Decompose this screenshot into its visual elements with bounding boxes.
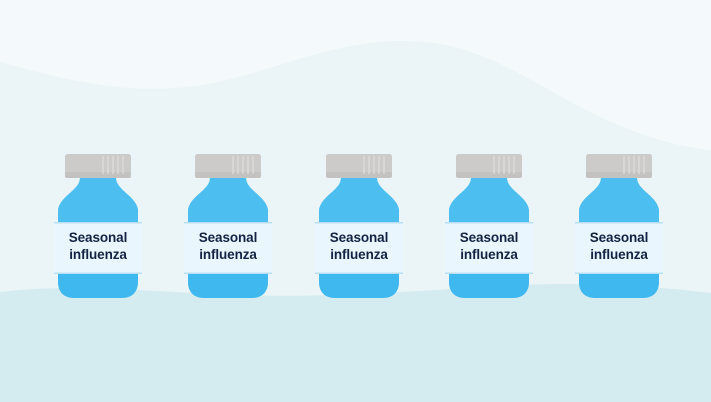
- vial-body-highlight: [449, 178, 529, 222]
- vaccine-vial[interactable]: Seasonal influenza: [313, 152, 405, 302]
- vial-graphic: [52, 152, 144, 302]
- vial-label-edge-top: [54, 222, 142, 224]
- vial-body-highlight: [579, 178, 659, 222]
- vial-body-highlight: [188, 178, 268, 222]
- vial-label: [575, 222, 663, 274]
- vial-label: [184, 222, 272, 274]
- vial-label: [315, 222, 403, 274]
- vial-label-edge-top: [184, 222, 272, 224]
- vial-body-highlight: [58, 178, 138, 222]
- vaccine-vial[interactable]: Seasonal influenza: [573, 152, 665, 302]
- vial-graphic: [443, 152, 535, 302]
- vial-cap-shadow: [65, 172, 131, 178]
- vial-label-edge-bottom: [575, 273, 663, 275]
- vial-label-edge-bottom: [184, 273, 272, 275]
- vial-label-edge-top: [575, 222, 663, 224]
- vial-graphic: [573, 152, 665, 302]
- vaccine-vial[interactable]: Seasonal influenza: [443, 152, 535, 302]
- vial-label: [445, 222, 533, 274]
- vial-cap-shadow: [586, 172, 652, 178]
- vial-label-edge-bottom: [315, 273, 403, 275]
- vial-cap-shadow: [326, 172, 392, 178]
- illustration-scene: Seasonal influenza: [0, 0, 711, 402]
- vaccine-vial[interactable]: Seasonal influenza: [182, 152, 274, 302]
- vial-body-highlight: [319, 178, 399, 222]
- vial-label-edge-top: [445, 222, 533, 224]
- vial-cap-shadow: [195, 172, 261, 178]
- vial-cap-shadow: [456, 172, 522, 178]
- vial-label-edge-top: [315, 222, 403, 224]
- vial-graphic: [313, 152, 405, 302]
- vial-graphic: [182, 152, 274, 302]
- vial-label-edge-bottom: [54, 273, 142, 275]
- vial-label-edge-bottom: [445, 273, 533, 275]
- vial-row: Seasonal influenza: [0, 0, 711, 402]
- vaccine-vial[interactable]: Seasonal influenza: [52, 152, 144, 302]
- vial-label: [54, 222, 142, 274]
